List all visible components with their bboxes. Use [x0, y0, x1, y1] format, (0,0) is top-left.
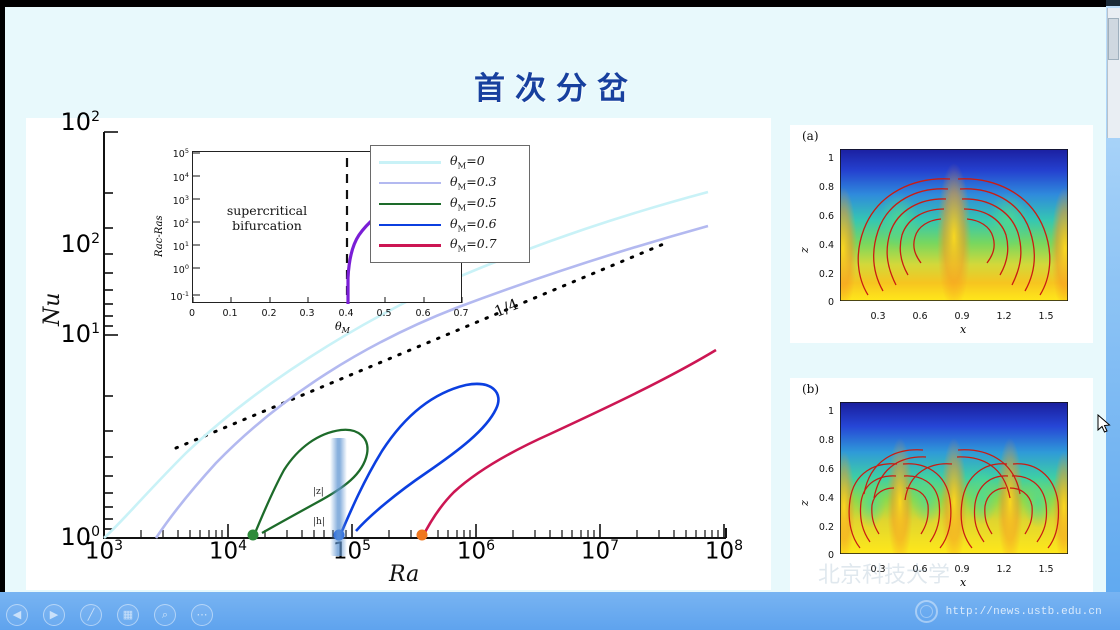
- panel-b-y-tick: 0.4: [808, 493, 834, 504]
- panel-b-y-tick: 1: [808, 406, 834, 417]
- legend-swatch-theta-0p3: [379, 182, 441, 185]
- slide-overview-button[interactable]: ▦: [117, 604, 139, 626]
- inset-x-tick: 0: [189, 308, 195, 319]
- panel-b-x-tick: 0.6: [912, 564, 927, 575]
- panel-b-x-axis-label: x: [960, 576, 966, 589]
- inset-y-tick: 100: [155, 263, 189, 276]
- inset-x-tick: 0.6: [415, 308, 430, 319]
- panel-b-y-tick: 0.8: [808, 435, 834, 446]
- panel-a-field: [840, 149, 1068, 301]
- previous-slide-button[interactable]: ◀: [6, 604, 28, 626]
- panel-a-y-tick: 0.2: [808, 269, 834, 280]
- legend-swatch-theta-0: [379, 161, 441, 164]
- gutter-top-cap: [1106, 0, 1120, 6]
- panel-a-x-tick: 0.9: [954, 311, 969, 322]
- inset-y-tick: 103: [155, 194, 189, 207]
- panel-a-x-tick: 1.5: [1038, 311, 1053, 322]
- panel-a-y-tick: 0: [808, 297, 834, 308]
- inset-y-tick: 105: [155, 147, 189, 160]
- inset-x-tick: 0.3: [299, 308, 314, 319]
- legend-item: θM=0: [379, 152, 521, 172]
- panel-b-x-tick: 0.9: [954, 564, 969, 575]
- legend-item: θM=0.3: [379, 173, 521, 193]
- watermark: http://news.ustb.edu.cn: [915, 600, 1102, 623]
- panel-a-x-axis-label: x: [960, 323, 966, 336]
- panel-a-tag: (a): [802, 129, 819, 143]
- onset-marker-theta-0p5: [248, 530, 259, 541]
- inset-y-tick: 104: [155, 171, 189, 184]
- panel-b-y-tick: 0.6: [808, 464, 834, 475]
- legend-swatch-theta-0p5: [379, 203, 441, 206]
- panel-b-x-tick: 1.5: [1038, 564, 1053, 575]
- inset-y-tick: 101: [155, 240, 189, 253]
- presenter-bottom-bar: ◀ ▶ ╱ ▦ ⌕ ⋯ http://news.ustb.edu.cn: [0, 592, 1120, 630]
- inset-y-tick: 10-1: [155, 290, 189, 303]
- panel-a-x-tick: 1.2: [996, 311, 1011, 322]
- legend-item: θM=0.6: [379, 215, 521, 235]
- main-bifurcation-chart: Nu 102 102 101 100 103 104 105 106 107 1…: [26, 118, 771, 590]
- supercritical-annotation: supercriticalbifurcation: [211, 204, 323, 234]
- inset-x-tick: 0.4: [338, 308, 353, 319]
- inset-x-tick: 0.2: [261, 308, 276, 319]
- vertical-scrollbar[interactable]: [1107, 8, 1120, 138]
- next-slide-button[interactable]: ▶: [43, 604, 65, 626]
- mouse-cursor-icon: [1097, 414, 1111, 434]
- page-title: 首次分岔: [5, 63, 1107, 108]
- scrollbar-thumb[interactable]: [1108, 18, 1119, 60]
- legend-swatch-theta-0p7: [379, 244, 441, 247]
- onset-marker-theta-0p7: [417, 530, 428, 541]
- slope-annotation-label: 1/4: [492, 295, 521, 321]
- legend-label-theta-0p5: θM=0.5: [450, 195, 497, 214]
- panel-a-y-tick: 0.8: [808, 182, 834, 193]
- watermark-url: http://news.ustb.edu.cn: [946, 606, 1102, 618]
- panel-a-flow-field: (a) z 1 0.8 0.6 0.4 0.2 0 0.3 0.6 0.9 1.…: [790, 125, 1093, 343]
- highlight-note-top: |z|: [313, 487, 324, 497]
- pen-tool-button[interactable]: ╱: [80, 604, 102, 626]
- panel-b-x-tick: 1.2: [996, 564, 1011, 575]
- inset-x-tick: 0.5: [376, 308, 391, 319]
- legend-label-theta-0p7: θM=0.7: [450, 236, 497, 255]
- series-line-theta-0p6: [339, 384, 498, 538]
- panel-b-y-tick: 0.2: [808, 522, 834, 533]
- panel-a-x-tick: 0.6: [912, 311, 927, 322]
- zoom-tool-button[interactable]: ⌕: [154, 604, 176, 626]
- series-line-theta-0p5: [253, 430, 367, 538]
- university-seal-icon: [915, 600, 938, 623]
- legend-item: θM=0.5: [379, 194, 521, 214]
- panel-b-x-tick: 0.3: [870, 564, 885, 575]
- panel-a-y-tick: 0.4: [808, 240, 834, 251]
- panel-b-flow-field: (b) z 1 0.8 0.6 0.4 0.2 0 0.3 0.6 0.9 1.…: [790, 378, 1093, 596]
- panel-a-y-tick: 1: [808, 153, 834, 164]
- panel-b-tag: (b): [802, 382, 819, 396]
- inset-x-axis-label: θM: [335, 320, 350, 335]
- highlight-note-bottom: |h|: [313, 517, 325, 527]
- legend-item: θM=0.7: [379, 236, 521, 256]
- legend-label-theta-0: θM=0: [450, 153, 485, 172]
- inset-x-tick: 0.1: [222, 308, 237, 319]
- main-chart-legend: θM=0 θM=0.3 θM=0.5 θM=0.6 θM=0.7: [370, 145, 530, 263]
- presenter-toolbar: ◀ ▶ ╱ ▦ ⌕ ⋯: [6, 604, 213, 626]
- slide-canvas: 首次分岔 Nu 102 102 101 100 103 104 105 106 …: [5, 7, 1107, 592]
- legend-swatch-theta-0p6: [379, 224, 441, 227]
- panel-a-y-tick: 0.6: [808, 211, 834, 222]
- more-options-button[interactable]: ⋯: [191, 604, 213, 626]
- legend-label-theta-0p6: θM=0.6: [450, 216, 497, 235]
- panel-b-field: [840, 402, 1068, 554]
- presentation-viewer: 首次分岔 Nu 102 102 101 100 103 104 105 106 …: [0, 0, 1120, 630]
- panel-b-y-tick: 0: [808, 550, 834, 561]
- highlight-bar: [330, 438, 347, 556]
- inset-y-tick: 102: [155, 217, 189, 230]
- inset-x-tick: 0.7: [453, 308, 468, 319]
- panel-a-x-tick: 0.3: [870, 311, 885, 322]
- legend-label-theta-0p3: θM=0.3: [450, 174, 497, 193]
